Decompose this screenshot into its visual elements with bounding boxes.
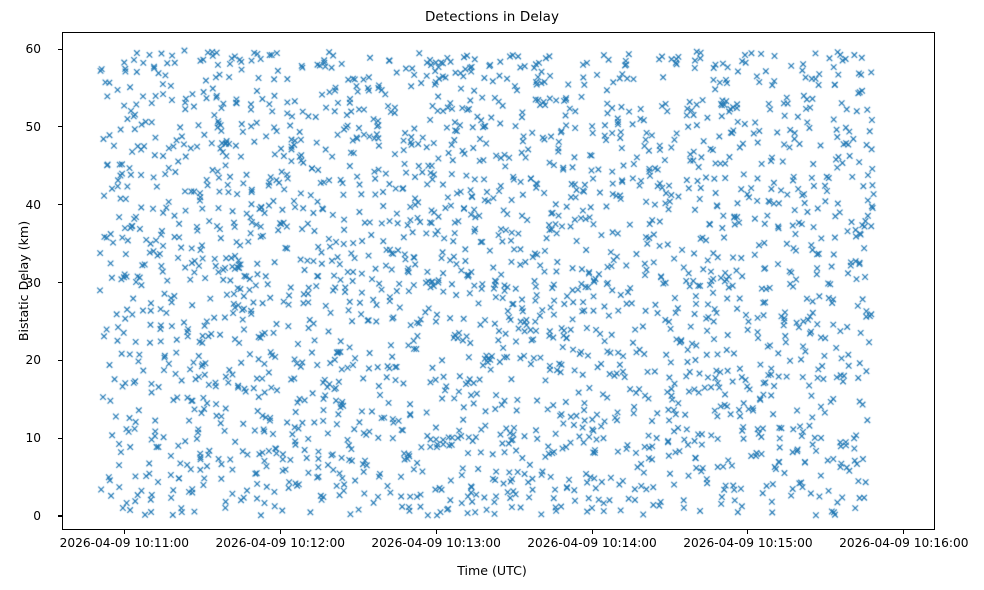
y-tick-mark — [58, 438, 62, 439]
x-tick-label: 2026-04-09 10:14:00 — [527, 536, 656, 550]
y-axis-label: Bistatic Delay (km) — [16, 221, 31, 341]
x-tick-mark — [903, 530, 904, 534]
x-tick-label: 2026-04-09 10:13:00 — [371, 536, 500, 550]
x-tick-mark — [436, 530, 437, 534]
y-tick-label: 50 — [25, 120, 41, 134]
x-tick-label: 2026-04-09 10:16:00 — [839, 536, 968, 550]
chart-title: Detections in Delay — [0, 9, 984, 25]
x-tick-mark — [280, 530, 281, 534]
y-tick-mark — [58, 360, 62, 361]
y-tick-mark — [58, 515, 62, 516]
x-tick-label: 2026-04-09 10:15:00 — [683, 536, 812, 550]
plot-axes — [62, 32, 935, 530]
x-axis-label: Time (UTC) — [0, 563, 984, 578]
y-tick-label: 0 — [33, 509, 41, 523]
y-tick-label: 60 — [25, 42, 41, 56]
x-tick-mark — [592, 530, 593, 534]
y-tick-label: 10 — [25, 431, 41, 445]
y-tick-mark — [58, 204, 62, 205]
matplotlib-figure: Detections in Delay 0102030405060 2026-0… — [0, 0, 984, 590]
scatter-plot-canvas — [63, 33, 935, 530]
x-tick-mark — [747, 530, 748, 534]
x-tick-label: 2026-04-09 10:12:00 — [216, 536, 345, 550]
y-tick-mark — [58, 282, 62, 283]
x-tick-label: 2026-04-09 10:11:00 — [60, 536, 189, 550]
y-tick-mark — [58, 126, 62, 127]
y-tick-label: 20 — [25, 353, 41, 367]
x-tick-mark — [124, 530, 125, 534]
y-tick-label: 40 — [25, 198, 41, 212]
y-tick-mark — [58, 49, 62, 50]
